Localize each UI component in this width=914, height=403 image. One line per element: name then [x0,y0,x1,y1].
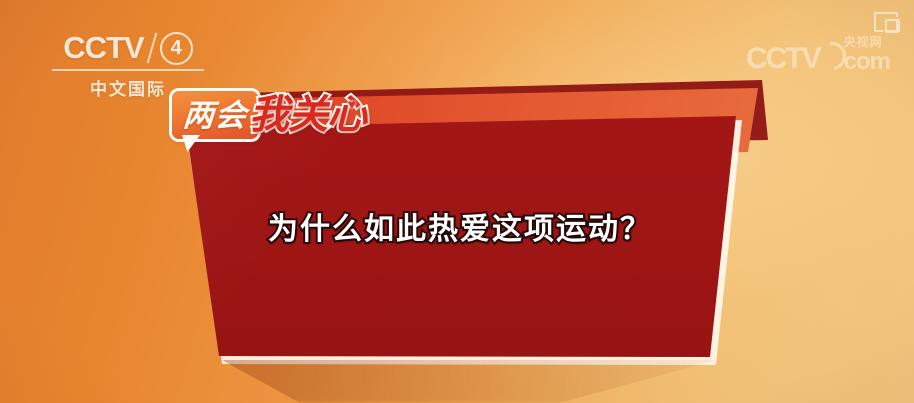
broadcast-screen: 两会 我关心 ♥ 为什么如此热爱这项运动？ CCTV 4 中文国际 CCTV 央… [0,0,914,403]
cctv-wordmark: CCTV [63,30,143,66]
watermark-domain-text: com [844,50,890,74]
cctv-com-watermark: CCTV 央视网 com [746,36,890,74]
channel-bug-underline [52,69,204,71]
pip-inner-frame [885,19,900,33]
channel-number-badge: 4 [160,32,193,65]
woguanxin-wordmark: 我关心 ♥ [249,95,366,135]
watermark-stack: 央视网 com [844,36,890,74]
lianghui-bubble-text: 两会 [182,100,248,131]
picture-in-picture-icon[interactable] [874,12,900,33]
slash-divider-icon [146,33,157,63]
program-logo: 两会 我关心 ♥ [172,86,366,144]
swoosh-icon [822,42,842,74]
question-text: 为什么如此热爱这项运动？ [205,212,715,248]
watermark-cctv-text: CCTV [746,44,820,74]
lianghui-speech-bubble: 两会 [172,91,258,139]
watermark-chinese-text: 央视网 [844,36,883,48]
channel-bug-row: CCTV 4 [48,30,208,66]
cctv4-channel-bug: CCTV 4 中文国际 [48,30,208,100]
heart-icon: ♥ [348,96,356,112]
